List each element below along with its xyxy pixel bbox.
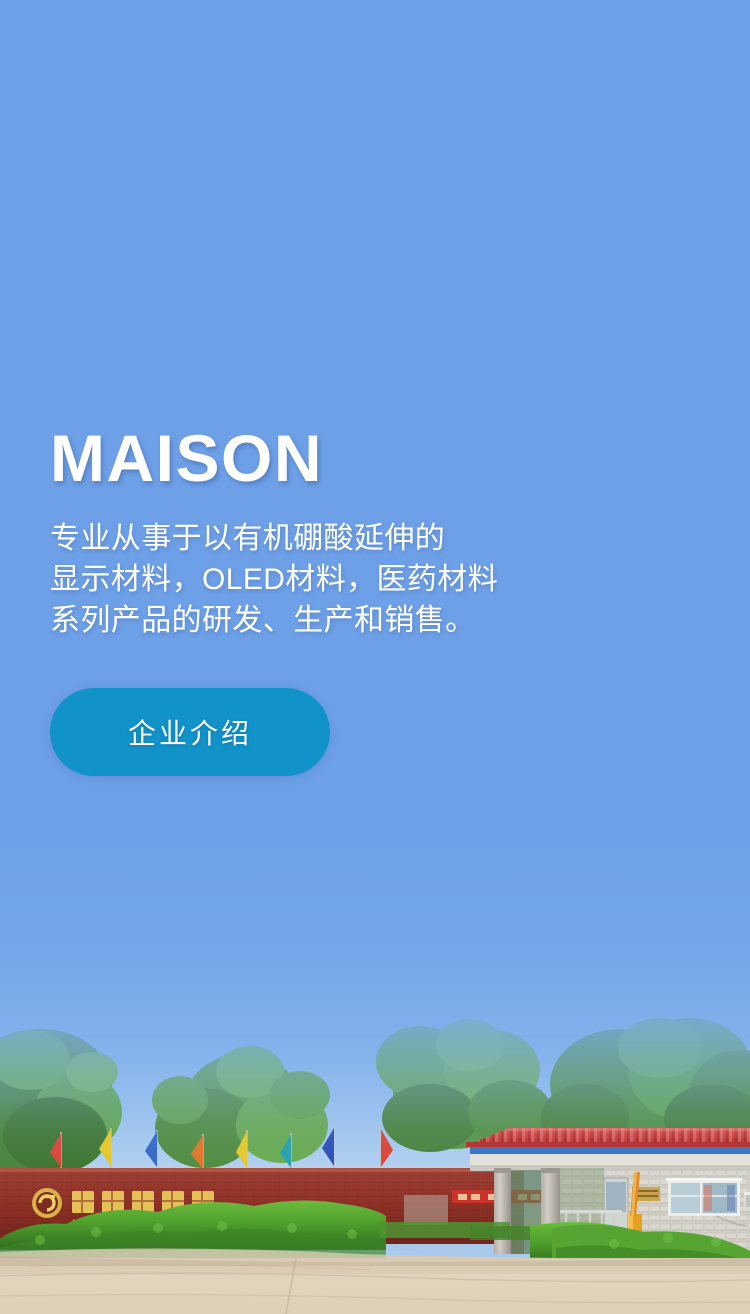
hero-subtitle-line-2: 显示材料，OLED材料，医药材料 [50, 559, 690, 600]
hero-subtitle-line-1: 专业从事于以有机硼酸延伸的 [50, 518, 690, 559]
hero-subtitle-line-3: 系列产品的研发、生产和销售。 [50, 600, 690, 641]
hero-copy-block: MAISON 专业从事于以有机硼酸延伸的 显示材料，OLED材料，医药材料 系列… [50, 425, 690, 776]
page-title: MAISON [50, 425, 690, 492]
company-intro-button[interactable]: 企业介绍 [50, 688, 330, 776]
hero-subtitle: 专业从事于以有机硼酸延伸的 显示材料，OLED材料，医药材料 系列产品的研发、生… [50, 518, 690, 641]
hero-banner: MAISON CHEMICAL [0, 0, 750, 1314]
